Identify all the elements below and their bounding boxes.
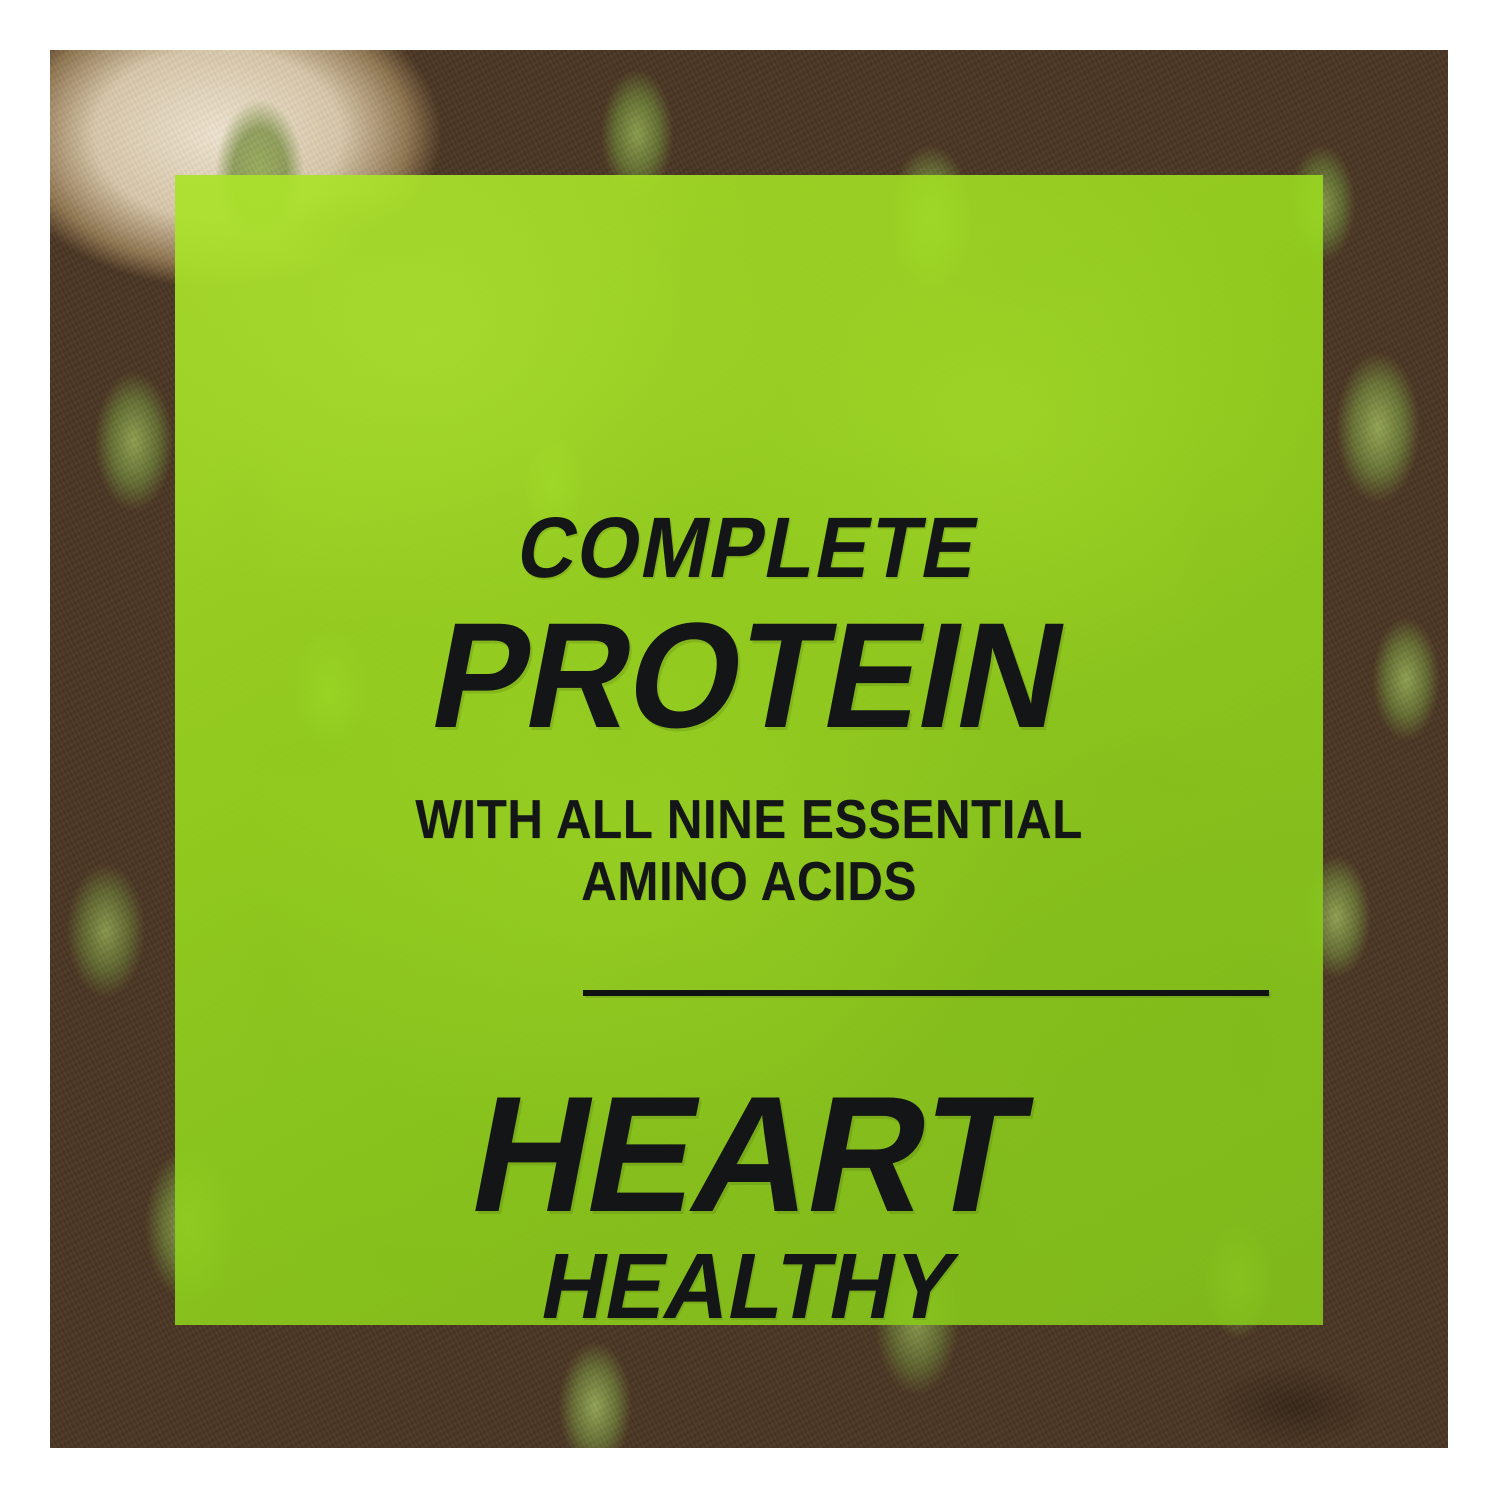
- headline-eyebrow: COMPLETE: [207, 505, 1291, 591]
- claim-sub: HEALTHY: [195, 1240, 1304, 1325]
- claim-main: HEART: [175, 1072, 1323, 1237]
- green-overlay-panel: COMPLETE PROTEIN WITH ALL NINE ESSENTIAL…: [175, 175, 1323, 1325]
- subhead-line-2: AMINO ACIDS: [232, 854, 1265, 909]
- subhead-line-1: WITH ALL NINE ESSENTIAL: [232, 792, 1265, 847]
- product-feature-card: COMPLETE PROTEIN WITH ALL NINE ESSENTIAL…: [0, 0, 1500, 1500]
- feature-text-block: COMPLETE PROTEIN WITH ALL NINE ESSENTIAL…: [175, 175, 1323, 1325]
- section-divider: [583, 990, 1269, 996]
- headline-main: PROTEIN: [189, 600, 1309, 750]
